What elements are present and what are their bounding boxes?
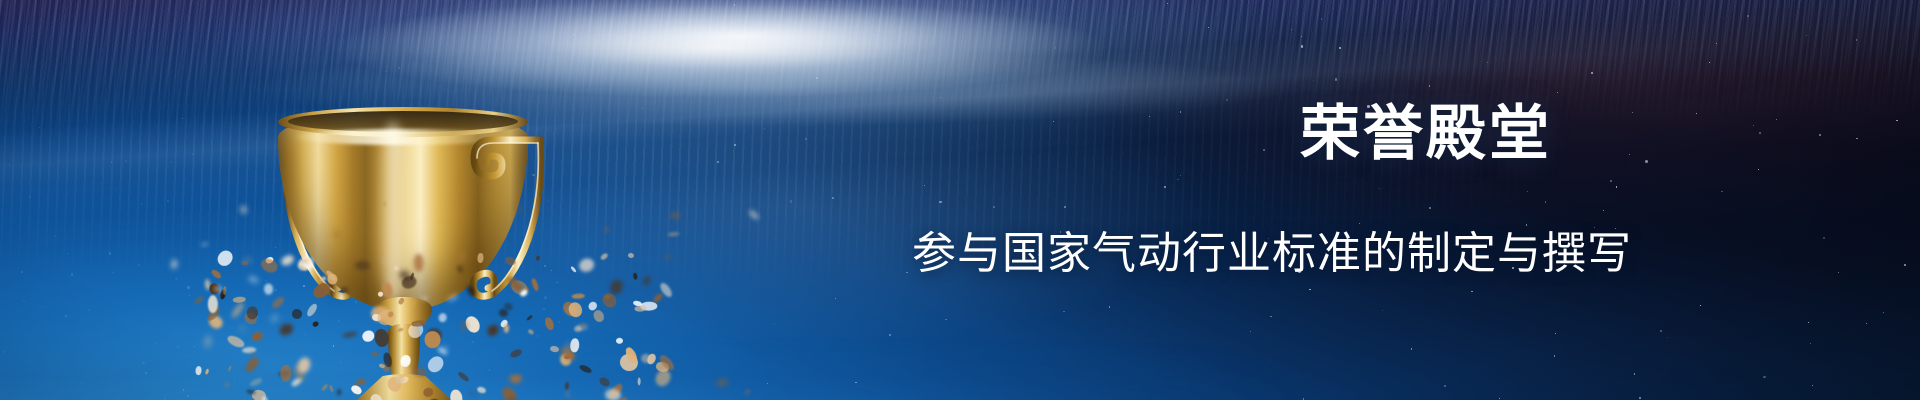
trophy-cup-highlight xyxy=(376,122,410,302)
trophy-icon xyxy=(258,92,568,400)
banner-subtitle: 参与国家气动行业标准的制定与撰写 xyxy=(912,232,1632,276)
trophy-knop xyxy=(376,297,432,327)
trophy-handle-right-icon xyxy=(450,110,570,324)
honor-hall-banner: 荣誉殿堂 参与国家气动行业标准的制定与撰写 xyxy=(0,0,1920,400)
banner-text-block: 荣誉殿堂 参与国家气动行业标准的制定与撰写 xyxy=(1300,104,1840,164)
page-title: 荣誉殿堂 xyxy=(1300,104,1840,164)
trophy-foot-cone xyxy=(344,374,464,400)
trophy-stem xyxy=(388,324,420,382)
